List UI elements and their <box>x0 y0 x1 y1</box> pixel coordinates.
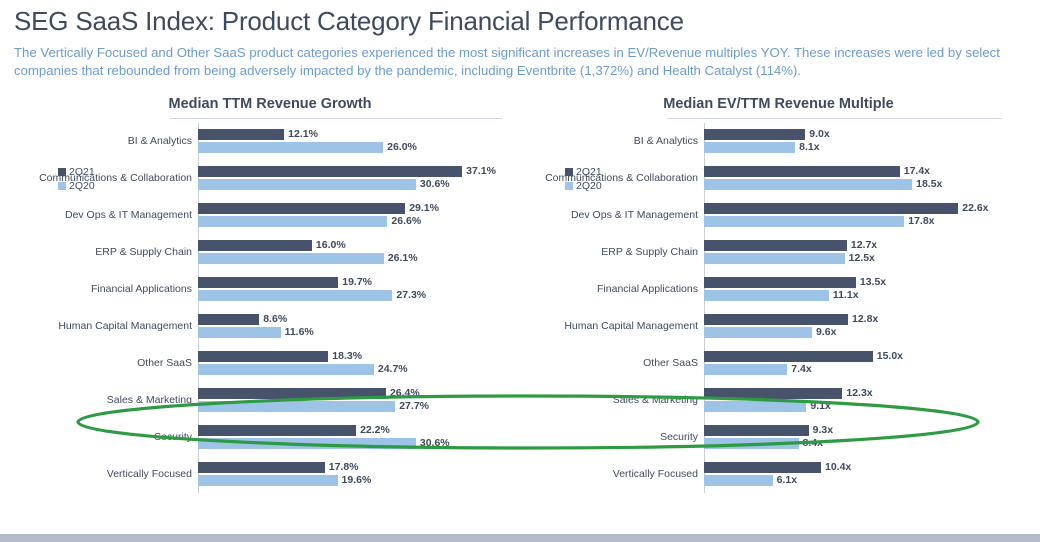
chart-bar-value: 8.4x <box>803 437 823 449</box>
chart-bar-value: 12.5x <box>849 252 875 264</box>
chart-bar-value: 11.6% <box>285 326 314 338</box>
chart-bar-value: 9.6x <box>816 326 836 338</box>
chart-bar-line: 8.1x <box>704 142 1020 153</box>
chart-bar-group: 17.4x18.5x <box>704 164 1020 194</box>
chart-bar-line: 19.6% <box>198 475 510 486</box>
chart-bar-line: 11.1x <box>704 290 1020 301</box>
chart-bar-2q20 <box>198 401 395 412</box>
chart-bar-value: 27.3% <box>396 289 426 301</box>
chart-bar-2q20 <box>198 216 387 227</box>
chart-bar-group: 9.3x8.4x <box>704 423 1020 453</box>
chart-bar-2q21 <box>704 166 900 177</box>
chart-bar-line: 22.6x <box>704 203 1020 214</box>
chart-bar-2q20 <box>704 327 812 338</box>
chart-row: Communications & Collaboration17.4x18.5x <box>537 160 1020 197</box>
chart-bar-2q20 <box>704 142 795 153</box>
chart-category-label: Dev Ops & IT Management <box>30 209 198 222</box>
chart-bar-value: 12.7x <box>851 239 877 251</box>
chart-bar-line: 9.3x <box>704 425 1020 436</box>
chart-bar-2q21 <box>198 166 462 177</box>
chart-bar-value: 18.3% <box>332 350 362 362</box>
chart-category-label: BI & Analytics <box>30 135 198 148</box>
chart-row: Dev Ops & IT Management22.6x17.8x <box>537 197 1020 234</box>
chart-row: Security22.2%30.6% <box>30 419 510 456</box>
chart-bar-value: 17.8% <box>329 461 359 473</box>
chart-bar-line: 30.6% <box>198 438 510 449</box>
chart-bar-line: 12.3x <box>704 388 1020 399</box>
chart-rows-ev-multiple: BI & Analytics9.0x8.1xCommunications & C… <box>537 123 1020 493</box>
chart-bar-2q21 <box>198 388 386 399</box>
chart-bar-value: 29.1% <box>409 202 439 214</box>
chart-bar-value: 26.0% <box>387 141 417 153</box>
chart-bar-group: 8.6%11.6% <box>198 312 510 342</box>
chart-bar-group: 10.4x6.1x <box>704 460 1020 490</box>
chart-bar-value: 24.7% <box>378 363 408 375</box>
chart-bar-line: 27.3% <box>198 290 510 301</box>
chart-category-label: ERP & Supply Chain <box>30 246 198 259</box>
chart-bar-value: 12.8x <box>852 313 878 325</box>
chart-title-revenue-growth: Median TTM Revenue Growth <box>30 96 510 118</box>
chart-category-label: Communications & Collaboration <box>537 172 704 185</box>
chart-bar-2q21 <box>704 240 847 251</box>
chart-bar-value: 17.4x <box>904 165 930 177</box>
chart-row: Human Capital Management12.8x9.6x <box>537 308 1020 345</box>
chart-category-label: BI & Analytics <box>537 135 704 148</box>
chart-row: Dev Ops & IT Management29.1%26.6% <box>30 197 510 234</box>
chart-bar-line: 12.8x <box>704 314 1020 325</box>
chart-category-label: Human Capital Management <box>537 320 704 333</box>
chart-bar-value: 26.6% <box>391 215 421 227</box>
chart-bar-value: 30.6% <box>420 437 450 449</box>
chart-bar-2q20 <box>704 401 806 412</box>
chart-bar-line: 10.4x <box>704 462 1020 473</box>
chart-bar-value: 9.1x <box>810 400 830 412</box>
chart-bar-group: 29.1%26.6% <box>198 201 510 231</box>
chart-bar-group: 18.3%24.7% <box>198 349 510 379</box>
chart-row: Communications & Collaboration37.1%30.6% <box>30 160 510 197</box>
chart-category-label: Other SaaS <box>30 357 198 370</box>
chart-bar-2q20 <box>198 179 416 190</box>
chart-row: Vertically Focused17.8%19.6% <box>30 456 510 493</box>
chart-bar-2q21 <box>704 351 873 362</box>
chart-bar-2q20 <box>704 364 787 375</box>
chart-bar-line: 12.7x <box>704 240 1020 251</box>
chart-bar-2q20 <box>704 216 904 227</box>
chart-category-label: Human Capital Management <box>30 320 198 333</box>
chart-bar-2q21 <box>704 314 848 325</box>
chart-bar-line: 17.8% <box>198 462 510 473</box>
chart-rows-revenue-growth: BI & Analytics12.1%26.0%Communications &… <box>30 123 510 493</box>
chart-bar-2q21 <box>198 129 284 140</box>
chart-bar-line: 18.5x <box>704 179 1020 190</box>
chart-bar-2q20 <box>198 327 281 338</box>
chart-bar-line: 15.0x <box>704 351 1020 362</box>
chart-category-label: Other SaaS <box>537 357 704 370</box>
chart-bar-2q21 <box>198 240 312 251</box>
chart-bar-group: 12.8x9.6x <box>704 312 1020 342</box>
chart-body-revenue-growth: 2Q21 2Q20 BI & Analytics12.1%26.0%Commun… <box>30 123 510 493</box>
chart-bar-line: 7.4x <box>704 364 1020 375</box>
chart-category-label: Vertically Focused <box>30 468 198 481</box>
chart-bar-line: 6.1x <box>704 475 1020 486</box>
chart-bar-line: 12.1% <box>198 129 510 140</box>
chart-bar-group: 26.4%27.7% <box>198 386 510 416</box>
chart-bar-group: 9.0x8.1x <box>704 127 1020 157</box>
chart-bar-value: 26.4% <box>390 387 420 399</box>
chart-bar-line: 26.6% <box>198 216 510 227</box>
chart-bar-line: 17.4x <box>704 166 1020 177</box>
chart-bar-group: 19.7%27.3% <box>198 275 510 305</box>
chart-body-ev-multiple: 2Q21 2Q20 BI & Analytics9.0x8.1xCommunic… <box>537 123 1020 493</box>
chart-bar-2q20 <box>704 438 799 449</box>
chart-bar-line: 11.6% <box>198 327 510 338</box>
chart-bar-line: 24.7% <box>198 364 510 375</box>
chart-row: ERP & Supply Chain12.7x12.5x <box>537 234 1020 271</box>
chart-bar-line: 29.1% <box>198 203 510 214</box>
chart-bar-value: 7.4x <box>791 363 811 375</box>
chart-bar-line: 26.1% <box>198 253 510 264</box>
chart-row: Human Capital Management8.6%11.6% <box>30 308 510 345</box>
chart-bar-value: 19.6% <box>342 474 372 486</box>
chart-category-label: Communications & Collaboration <box>30 172 198 185</box>
chart-bar-line: 19.7% <box>198 277 510 288</box>
chart-row: Sales & Marketing26.4%27.7% <box>30 382 510 419</box>
chart-bar-value: 9.0x <box>809 128 829 140</box>
chart-title-divider <box>667 118 1002 119</box>
chart-bar-value: 8.1x <box>799 141 819 153</box>
chart-bar-line: 18.3% <box>198 351 510 362</box>
chart-bar-line: 22.2% <box>198 425 510 436</box>
chart-bar-line: 13.5x <box>704 277 1020 288</box>
chart-bar-2q20 <box>704 290 829 301</box>
chart-category-label: Vertically Focused <box>537 468 704 481</box>
chart-bar-value: 9.3x <box>813 424 833 436</box>
chart-bar-2q21 <box>198 425 356 436</box>
chart-panel-ev-multiple: Median EV/TTM Revenue Multiple 2Q21 2Q20… <box>537 96 1020 493</box>
chart-bar-value: 22.6x <box>962 202 988 214</box>
chart-bar-2q20 <box>704 475 773 486</box>
chart-bar-2q20 <box>198 364 374 375</box>
chart-bar-value: 10.4x <box>825 461 851 473</box>
chart-bar-2q21 <box>704 425 809 436</box>
chart-bar-group: 17.8%19.6% <box>198 460 510 490</box>
chart-bar-group: 22.6x17.8x <box>704 201 1020 231</box>
chart-bar-line: 26.4% <box>198 388 510 399</box>
chart-bar-value: 13.5x <box>860 276 886 288</box>
chart-row: Financial Applications19.7%27.3% <box>30 271 510 308</box>
chart-bar-2q21 <box>704 388 842 399</box>
chart-bar-2q20 <box>198 438 416 449</box>
chart-row: Other SaaS18.3%24.7% <box>30 345 510 382</box>
chart-bar-value: 19.7% <box>342 276 372 288</box>
chart-bar-2q21 <box>198 277 338 288</box>
chart-bar-2q21 <box>704 277 856 288</box>
chart-title-divider <box>170 118 502 119</box>
chart-bar-line: 16.0% <box>198 240 510 251</box>
chart-bar-group: 37.1%30.6% <box>198 164 510 194</box>
chart-bar-group: 15.0x7.4x <box>704 349 1020 379</box>
chart-bar-value: 16.0% <box>316 239 346 251</box>
chart-row: Sales & Marketing12.3x9.1x <box>537 382 1020 419</box>
chart-bar-2q21 <box>198 314 259 325</box>
chart-bar-value: 18.5x <box>916 178 942 190</box>
chart-category-label: Financial Applications <box>30 283 198 296</box>
chart-bar-2q21 <box>704 462 821 473</box>
chart-bar-2q21 <box>704 129 805 140</box>
chart-bar-value: 8.6% <box>263 313 287 325</box>
chart-bar-2q20 <box>704 253 845 264</box>
chart-bar-value: 6.1x <box>777 474 797 486</box>
chart-bar-line: 8.6% <box>198 314 510 325</box>
chart-bar-value: 12.3x <box>846 387 872 399</box>
chart-bar-line: 9.1x <box>704 401 1020 412</box>
chart-row: Vertically Focused10.4x6.1x <box>537 456 1020 493</box>
chart-bar-value: 22.2% <box>360 424 390 436</box>
chart-category-label: ERP & Supply Chain <box>537 246 704 259</box>
chart-title-ev-multiple: Median EV/TTM Revenue Multiple <box>537 96 1020 118</box>
chart-bar-2q20 <box>198 475 338 486</box>
footer-bar <box>0 534 1040 542</box>
chart-bar-2q21 <box>198 203 405 214</box>
chart-row: BI & Analytics9.0x8.1x <box>537 123 1020 160</box>
chart-bar-line: 8.4x <box>704 438 1020 449</box>
chart-bar-group: 12.7x12.5x <box>704 238 1020 268</box>
chart-panel-revenue-growth: Median TTM Revenue Growth 2Q21 2Q20 BI &… <box>30 96 510 493</box>
page-title: SEG SaaS Index: Product Category Financi… <box>14 6 684 37</box>
chart-bar-line: 27.7% <box>198 401 510 412</box>
chart-bar-value: 12.1% <box>288 128 318 140</box>
chart-row: BI & Analytics12.1%26.0% <box>30 123 510 160</box>
chart-bar-2q21 <box>704 203 958 214</box>
chart-row: ERP & Supply Chain16.0%26.1% <box>30 234 510 271</box>
chart-bar-group: 16.0%26.1% <box>198 238 510 268</box>
chart-category-label: Sales & Marketing <box>537 394 704 407</box>
chart-bar-group: 22.2%30.6% <box>198 423 510 453</box>
slide: SEG SaaS Index: Product Category Financi… <box>0 0 1040 542</box>
chart-bar-line: 37.1% <box>198 166 510 177</box>
chart-bar-line: 30.6% <box>198 179 510 190</box>
chart-row: Financial Applications13.5x11.1x <box>537 271 1020 308</box>
chart-row: Security9.3x8.4x <box>537 419 1020 456</box>
chart-bar-2q20 <box>198 253 384 264</box>
chart-bar-value: 26.1% <box>388 252 418 264</box>
chart-category-label: Security <box>537 431 704 444</box>
chart-category-label: Security <box>30 431 198 444</box>
chart-row: Other SaaS15.0x7.4x <box>537 345 1020 382</box>
chart-bar-value: 27.7% <box>399 400 429 412</box>
chart-bar-2q21 <box>198 351 328 362</box>
chart-bar-2q21 <box>198 462 325 473</box>
chart-bar-value: 37.1% <box>466 165 496 177</box>
chart-bar-line: 17.8x <box>704 216 1020 227</box>
chart-bar-group: 12.1%26.0% <box>198 127 510 157</box>
chart-bar-2q20 <box>198 142 383 153</box>
chart-bar-value: 17.8x <box>908 215 934 227</box>
chart-bar-line: 9.6x <box>704 327 1020 338</box>
chart-category-label: Dev Ops & IT Management <box>537 209 704 222</box>
chart-bar-group: 13.5x11.1x <box>704 275 1020 305</box>
chart-bar-line: 26.0% <box>198 142 510 153</box>
chart-category-label: Financial Applications <box>537 283 704 296</box>
chart-bar-value: 15.0x <box>877 350 903 362</box>
page-subtitle: The Vertically Focused and Other SaaS pr… <box>14 44 1026 79</box>
chart-bar-2q20 <box>704 179 912 190</box>
chart-bar-value: 30.6% <box>420 178 450 190</box>
chart-bar-line: 9.0x <box>704 129 1020 140</box>
chart-bar-2q20 <box>198 290 392 301</box>
chart-category-label: Sales & Marketing <box>30 394 198 407</box>
chart-bar-line: 12.5x <box>704 253 1020 264</box>
chart-bar-value: 11.1x <box>833 289 859 301</box>
chart-bar-group: 12.3x9.1x <box>704 386 1020 416</box>
